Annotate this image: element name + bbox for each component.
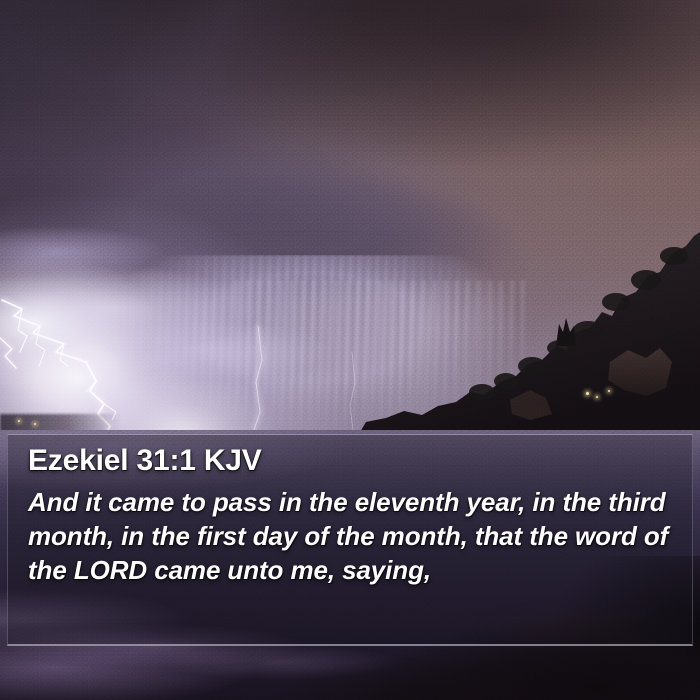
- verse-image-scene: Ezekiel 31:1 KJV And it came to pass in …: [0, 0, 700, 700]
- verse-text: And it came to pass in the eleventh year…: [28, 485, 676, 587]
- verse-reference: Ezekiel 31:1 KJV: [28, 441, 676, 481]
- verse-overlay-panel: Ezekiel 31:1 KJV And it came to pass in …: [7, 434, 693, 646]
